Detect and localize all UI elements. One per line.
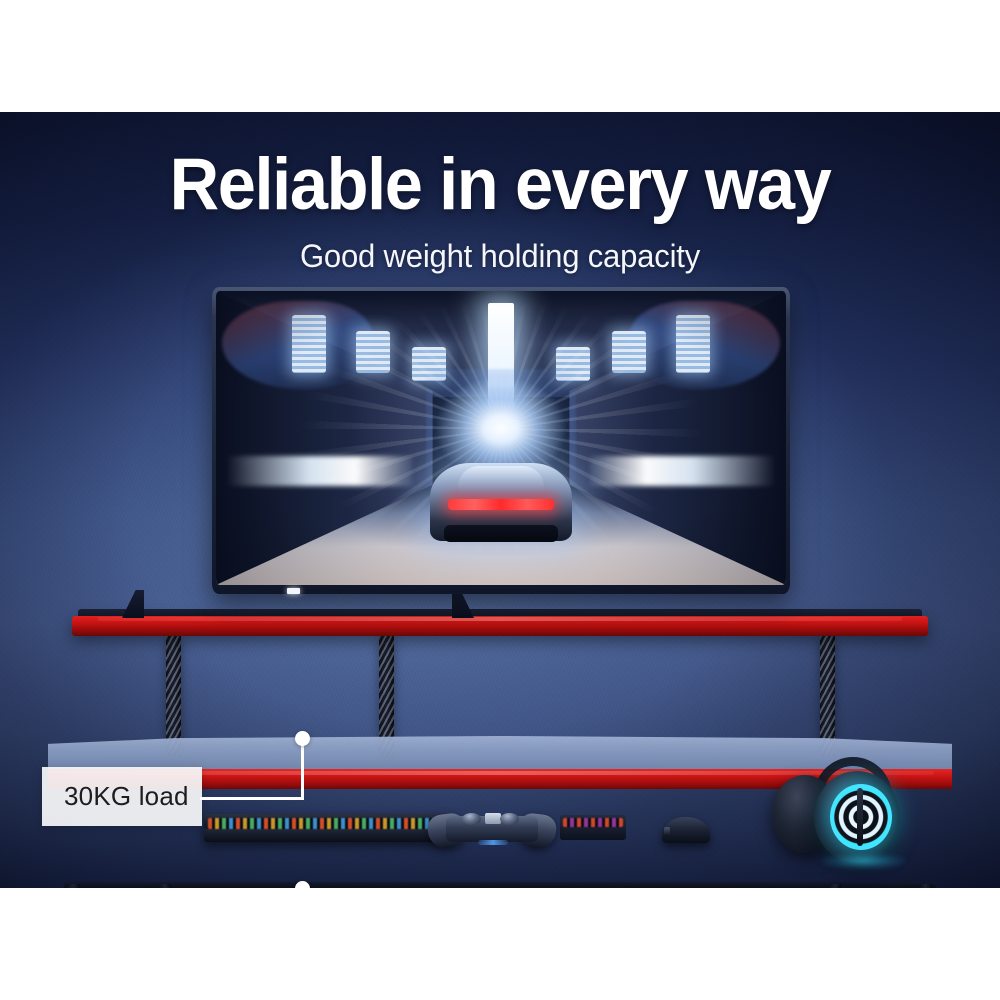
controller-touchpad [485, 813, 501, 824]
callout-anchor-dot [295, 731, 310, 746]
callout-leader-horizontal [200, 797, 304, 800]
controller-stick-right [500, 813, 519, 825]
scene-backdrop: Reliable in every way Good weight holdin… [0, 112, 1000, 888]
monitor-bezel [212, 287, 790, 594]
side-light-beam-left [226, 456, 412, 486]
callout-label: 30KG load [42, 767, 202, 826]
headset-glow [822, 853, 906, 869]
side-light-beam-right [590, 456, 776, 486]
controller-stick-left [462, 813, 481, 825]
controller-lightbar [478, 840, 508, 845]
monitor-screen [216, 291, 786, 585]
rgb-gaming-headset [770, 757, 922, 865]
monitor-shelf [72, 609, 928, 636]
monitor-foot-right [452, 590, 474, 618]
shelf-red-edge [72, 616, 928, 636]
gaming-monitor [212, 287, 790, 594]
monitor-foot-left [122, 590, 144, 618]
page-subtitle: Good weight holding capacity [15, 238, 985, 275]
car-diffuser [444, 525, 558, 542]
page-title: Reliable in every way [30, 148, 970, 221]
monitor-power-led [287, 588, 300, 594]
callout-leader-vertical [301, 740, 304, 800]
headset-rgb-ring [830, 784, 892, 850]
rgb-keyboard [204, 814, 444, 842]
race-car [430, 463, 572, 541]
heading-block: Reliable in every way Good weight holdin… [0, 148, 1000, 275]
secondary-keypad [560, 815, 626, 840]
keyboard-body [204, 829, 444, 842]
product-marketing-image: Reliable in every way Good weight holdin… [0, 0, 1000, 1000]
car-taillight [448, 499, 553, 511]
game-controller [428, 810, 556, 848]
keyboard-rgb-keys [208, 818, 440, 829]
car-windscreen [458, 466, 543, 494]
